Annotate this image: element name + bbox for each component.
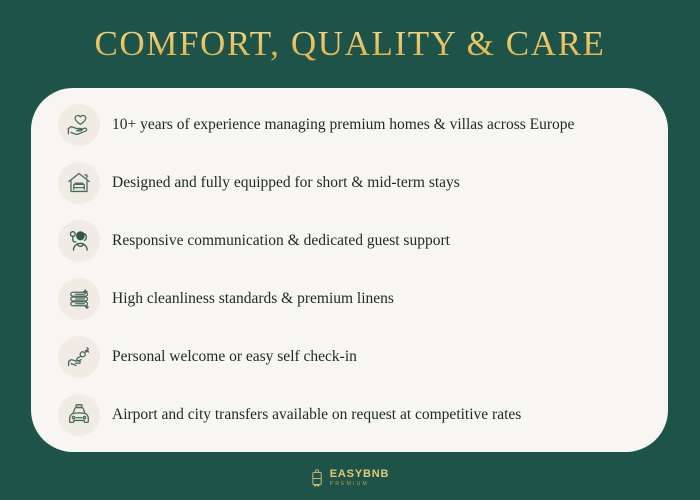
- list-item: Airport and city transfers available on …: [58, 394, 668, 436]
- features-list: 10+ years of experience managing premium…: [31, 104, 668, 436]
- list-item-label: Personal welcome or easy self check-in: [112, 348, 357, 367]
- list-item-label: Airport and city transfers available on …: [112, 406, 521, 425]
- footer-text-block: EASYBNB PREMIUM: [330, 469, 389, 487]
- features-card: 10+ years of experience managing premium…: [31, 88, 668, 452]
- brand-tagline: PREMIUM: [330, 482, 369, 487]
- list-item-label: Responsive communication & dedicated gue…: [112, 232, 450, 251]
- list-item: Responsive communication & dedicated gue…: [58, 220, 668, 262]
- brand-name: EASYBNB: [330, 469, 389, 480]
- list-item: Personal welcome or easy self check-in: [58, 336, 668, 378]
- folded-linens-icon: [58, 278, 100, 320]
- furnished-house-icon: [58, 162, 100, 204]
- list-item: High cleanliness standards & premium lin…: [58, 278, 668, 320]
- list-item-label: Designed and fully equipped for short & …: [112, 174, 460, 193]
- key-handover-icon: [58, 336, 100, 378]
- list-item: 10+ years of experience managing premium…: [58, 104, 668, 146]
- taxi-car-icon: [58, 394, 100, 436]
- list-item-label: High cleanliness standards & premium lin…: [112, 290, 394, 309]
- poster-canvas: COMFORT, QUALITY & CARE 10+ years of exp…: [0, 0, 700, 500]
- footer-logo: EASYBNB PREMIUM: [0, 468, 700, 488]
- hand-heart-icon: [58, 104, 100, 146]
- list-item: Designed and fully equipped for short & …: [58, 162, 668, 204]
- list-item-label: 10+ years of experience managing premium…: [112, 116, 574, 135]
- page-title: COMFORT, QUALITY & CARE: [0, 24, 700, 64]
- support-agent-icon: [58, 220, 100, 262]
- suitcase-icon: [311, 468, 324, 488]
